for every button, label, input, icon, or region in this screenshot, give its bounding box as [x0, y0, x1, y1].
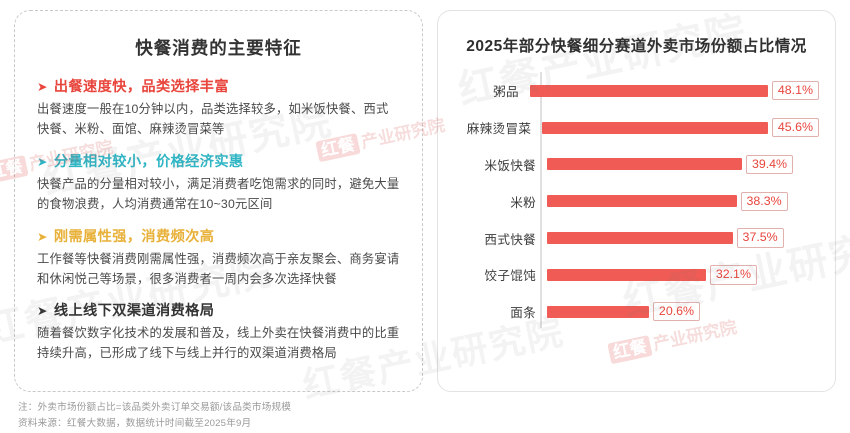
chart-bar	[547, 306, 649, 318]
arrow-right-icon: ➤	[37, 305, 48, 318]
feature-heading-row: ➤ 分量相对较小，价格经济实惠	[37, 151, 400, 171]
chart-title: 2025年部分快餐细分赛道外卖市场份额占比情况	[458, 35, 815, 58]
feature-item: ➤ 出餐速度快，品类选择丰富 出餐速度一般在10分钟以内，品类选择较多，如米饭快…	[37, 76, 400, 140]
arrow-right-icon: ➤	[37, 81, 48, 94]
feature-body: 出餐速度一般在10分钟以内，品类选择较多，如米饭快餐、西式快餐、米粉、面馆、麻辣…	[37, 100, 400, 140]
feature-body: 随着餐饮数字化技术的发展和普及，线上外卖在快餐消费中的比重持续升高，已形成了线下…	[37, 324, 400, 364]
chart-value-label: 38.3%	[741, 192, 788, 211]
chart-bar-wrapper: 20.6%	[544, 298, 819, 326]
chart-plot-area: 粥品48.1%麻辣烫冒菜45.6%米饭快餐39.4%米粉38.3%西式快餐37.…	[458, 72, 819, 330]
chart-bar	[547, 232, 733, 244]
arrow-right-icon: ➤	[37, 231, 48, 244]
chart-bar-wrapper: 32.1%	[544, 261, 819, 289]
feature-heading: 刚需属性强，消费频次高	[54, 226, 214, 246]
chart-category-label: 西式快餐	[458, 229, 544, 248]
feature-item: ➤ 分量相对较小，价格经济实惠 快餐产品的分量相对较小，满足消费者吃饱需求的同时…	[37, 151, 400, 215]
footnote-definition: 注：外卖市场份额占比=该品类外卖订单交易额/该品类市场规模	[18, 400, 836, 416]
feature-heading-row: ➤ 出餐速度快，品类选择丰富	[37, 76, 400, 96]
chart-bar	[530, 85, 768, 97]
feature-body: 工作餐等快餐消费刚需属性强，消费频次高于亲友聚会、商务宴请和休闲悦己等场景，很多…	[37, 250, 400, 290]
chart-bar	[547, 195, 737, 207]
chart-bar-wrapper: 45.6%	[539, 114, 819, 142]
feature-heading-row: ➤ 线上线下双渠道消费格局	[37, 300, 400, 320]
feature-heading: 线上线下双渠道消费格局	[54, 300, 214, 320]
feature-body: 快餐产品的分量相对较小，满足消费者吃饱需求的同时，避免大量的食物浪费，人均消费通…	[37, 175, 400, 215]
feature-heading: 分量相对较小，价格经济实惠	[54, 151, 244, 171]
chart-bar-wrapper: 48.1%	[527, 77, 819, 105]
feature-item: ➤ 线上线下双渠道消费格局 随着餐饮数字化技术的发展和普及，线上外卖在快餐消费中…	[37, 300, 400, 364]
chart-bar	[542, 122, 768, 134]
page-root: 快餐消费的主要特征 ➤ 出餐速度快，品类选择丰富 出餐速度一般在10分钟以内，品…	[0, 0, 850, 433]
chart-category-label: 米粉	[458, 192, 544, 211]
chart-category-label: 饺子馄饨	[458, 265, 544, 284]
chart-category-label: 粥品	[458, 81, 527, 100]
chart-category-label: 面条	[458, 302, 544, 321]
cards-container: 快餐消费的主要特征 ➤ 出餐速度快，品类选择丰富 出餐速度一般在10分钟以内，品…	[14, 10, 836, 392]
chart-bar	[547, 158, 742, 170]
chart-value-label: 32.1%	[710, 265, 757, 284]
features-card-title: 快餐消费的主要特征	[37, 35, 400, 60]
chart-value-label: 48.1%	[772, 81, 819, 100]
chart-value-label: 37.5%	[737, 228, 784, 247]
chart-footnotes: 注：外卖市场份额占比=该品类外卖订单交易额/该品类市场规模 资料来源：红餐大数据…	[14, 400, 836, 432]
chart-bar-row: 麻辣烫冒菜45.6%	[458, 114, 819, 142]
chart-bar-wrapper: 37.5%	[544, 224, 819, 252]
chart-bar	[547, 269, 706, 281]
features-card: 快餐消费的主要特征 ➤ 出餐速度快，品类选择丰富 出餐速度一般在10分钟以内，品…	[14, 10, 423, 392]
chart-category-label: 麻辣烫冒菜	[458, 118, 539, 137]
chart-bar-row: 粥品48.1%	[458, 77, 819, 105]
chart-value-label: 45.6%	[772, 118, 819, 137]
arrow-right-icon: ➤	[37, 156, 48, 169]
chart-category-label: 米饭快餐	[458, 155, 544, 174]
chart-bar-wrapper: 39.4%	[544, 150, 819, 178]
chart-bar-wrapper: 38.3%	[544, 187, 819, 215]
chart-bar-row: 米饭快餐39.4%	[458, 150, 819, 178]
footnote-source: 资料来源：红餐大数据，数据统计时间截至2025年9月	[18, 416, 836, 432]
chart-bar-row: 西式快餐37.5%	[458, 224, 819, 252]
feature-item: ➤ 刚需属性强，消费频次高 工作餐等快餐消费刚需属性强，消费频次高于亲友聚会、商…	[37, 226, 400, 290]
feature-heading: 出餐速度快，品类选择丰富	[54, 76, 229, 96]
chart-bar-row: 饺子馄饨32.1%	[458, 261, 819, 289]
chart-card: 2025年部分快餐细分赛道外卖市场份额占比情况 粥品48.1%麻辣烫冒菜45.6…	[437, 10, 836, 392]
chart-bar-row: 面条20.6%	[458, 298, 819, 326]
chart-bar-row: 米粉38.3%	[458, 187, 819, 215]
chart-bar-rows: 粥品48.1%麻辣烫冒菜45.6%米饭快餐39.4%米粉38.3%西式快餐37.…	[458, 72, 819, 330]
feature-heading-row: ➤ 刚需属性强，消费频次高	[37, 226, 400, 246]
chart-value-label: 20.6%	[653, 302, 700, 321]
chart-value-label: 39.4%	[746, 155, 793, 174]
